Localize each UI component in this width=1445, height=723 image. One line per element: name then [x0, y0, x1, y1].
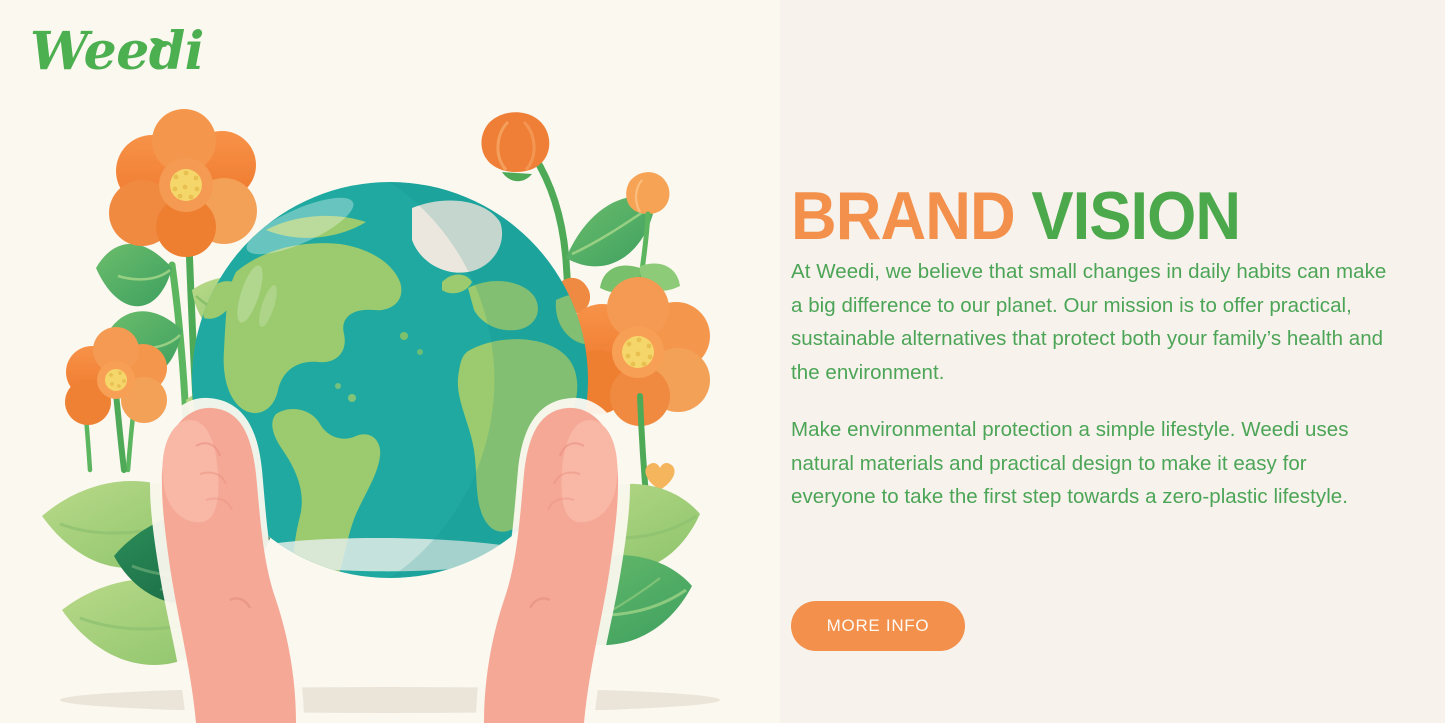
- body-copy: At Weedi, we believe that small changes …: [791, 255, 1395, 514]
- hands-holding-earth-illustration: [0, 0, 780, 723]
- paragraph-one: At Weedi, we believe that small changes …: [791, 255, 1395, 389]
- brand-vision-banner: Weedi BRAND VISION At Weedi, we believe …: [0, 0, 1445, 723]
- paragraph-two: Make environmental protection a simple l…: [791, 413, 1395, 514]
- headline-word-brand: BRAND: [791, 178, 1015, 254]
- illustration-panel: Weedi: [0, 0, 780, 723]
- headline-word-vision: VISION: [1031, 178, 1240, 254]
- page-title: BRAND VISION: [791, 180, 1240, 252]
- content-panel: BRAND VISION At Weedi, we believe that s…: [780, 0, 1445, 723]
- brand-logo[interactable]: Weedi: [30, 26, 204, 78]
- more-info-button[interactable]: MORE INFO: [791, 601, 965, 651]
